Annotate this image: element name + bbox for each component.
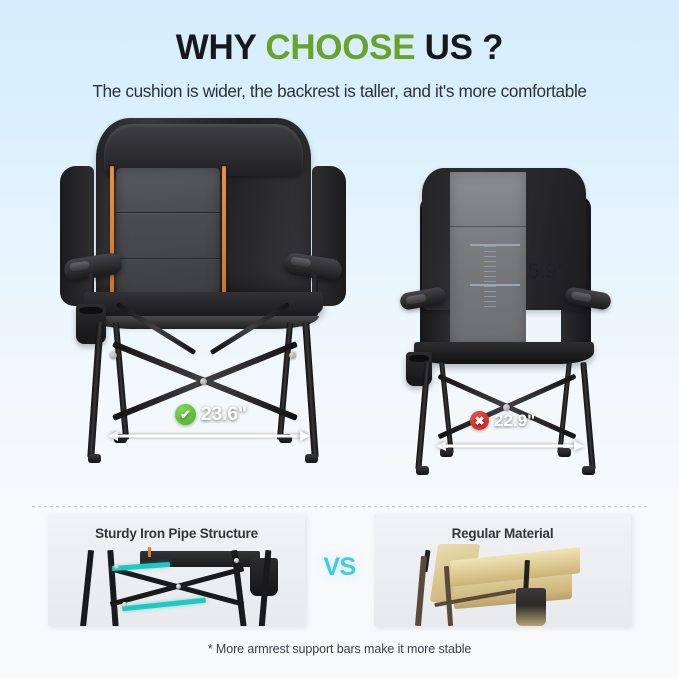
arrow-head-right-icon — [574, 441, 584, 451]
page-title: WHY CHOOSE US ? — [0, 30, 679, 67]
left-chair-joint-right — [289, 352, 296, 359]
right-chair-seat — [414, 342, 594, 364]
left-chair-width-label: 23.6" — [201, 404, 247, 426]
mini-chair-leg-2 — [107, 550, 118, 626]
left-chair-foot-front-left — [88, 454, 101, 463]
armrest-support-bar-highlight-upper — [112, 562, 170, 571]
left-chair-width-arrow — [108, 432, 310, 441]
right-chair-width-label: 22.9" — [494, 411, 535, 431]
title-part-1: WHY — [176, 28, 266, 67]
header: WHY CHOOSE US ? The cushion is wider, th… — [0, 0, 679, 102]
left-chair-leg-rear-right — [277, 322, 293, 440]
arrow-shaft — [443, 445, 577, 448]
panel-right-title: Regular Material — [374, 526, 631, 541]
regular-chair-leg-front — [415, 556, 427, 626]
mini-chair-leg-1 — [80, 550, 94, 626]
right-chair-leg-front-right — [580, 362, 595, 470]
panel-regular-material: Regular Material — [374, 514, 631, 626]
left-chair-foot-front-right — [305, 454, 318, 463]
left-chair-cushion-panel — [116, 168, 220, 306]
right-chair-joint-center — [503, 404, 510, 411]
regular-chair-cup-holder — [516, 588, 546, 626]
page-subtitle: The cushion is wider, the backrest is ta… — [0, 81, 679, 102]
vertical-ruler-icon — [470, 244, 520, 308]
left-chair-seat-front-edge — [88, 316, 319, 329]
mini-chair-orange-stripe — [148, 547, 151, 557]
arrow-head-right-icon — [300, 431, 310, 441]
panel-sturdy-iron-pipe: Sturdy Iron Pipe Structure — [48, 514, 305, 626]
height-difference-label: 5.9" — [528, 260, 564, 284]
left-chair-orange-stripe-right — [222, 166, 226, 306]
ruler-tick-marks — [484, 246, 496, 308]
arrow-shaft — [115, 435, 303, 438]
mini-chair-joint-2 — [176, 584, 181, 589]
title-accent-word: CHOOSE — [265, 28, 415, 67]
vs-separator-label: VS — [305, 553, 374, 582]
x-circle-icon: ✖ — [470, 411, 489, 430]
mini-chair-joint-3 — [122, 602, 127, 607]
mini-chair-joint-4 — [234, 558, 239, 563]
right-chair-width-arrow — [436, 442, 584, 451]
left-chair-orange-stripe-left — [110, 166, 114, 306]
section-divider — [32, 506, 647, 507]
ruler-reference-line-bottom — [470, 284, 520, 286]
footnote-text: * More armrest support bars make it more… — [0, 642, 679, 656]
title-part-2: US ? — [415, 28, 503, 67]
panel-left-title: Sturdy Iron Pipe Structure — [48, 526, 305, 541]
left-chair-leg-rear-left — [113, 322, 129, 440]
mini-chair-joint-1 — [114, 564, 119, 569]
left-chair-joint-left — [110, 352, 117, 359]
check-circle-icon: ✔ — [175, 404, 196, 425]
right-chair-foot-front-left — [416, 466, 429, 475]
right-chair-foot-front-right — [582, 466, 595, 475]
left-chair-width-badge: ✔ 23.6" — [175, 404, 247, 426]
comparison-stage: ✔ 23.6" ✖ 22.9" 5.9" — [0, 108, 679, 483]
right-chair-width-badge: ✖ 22.9" — [470, 411, 535, 431]
left-chair-joint-center — [200, 378, 207, 385]
